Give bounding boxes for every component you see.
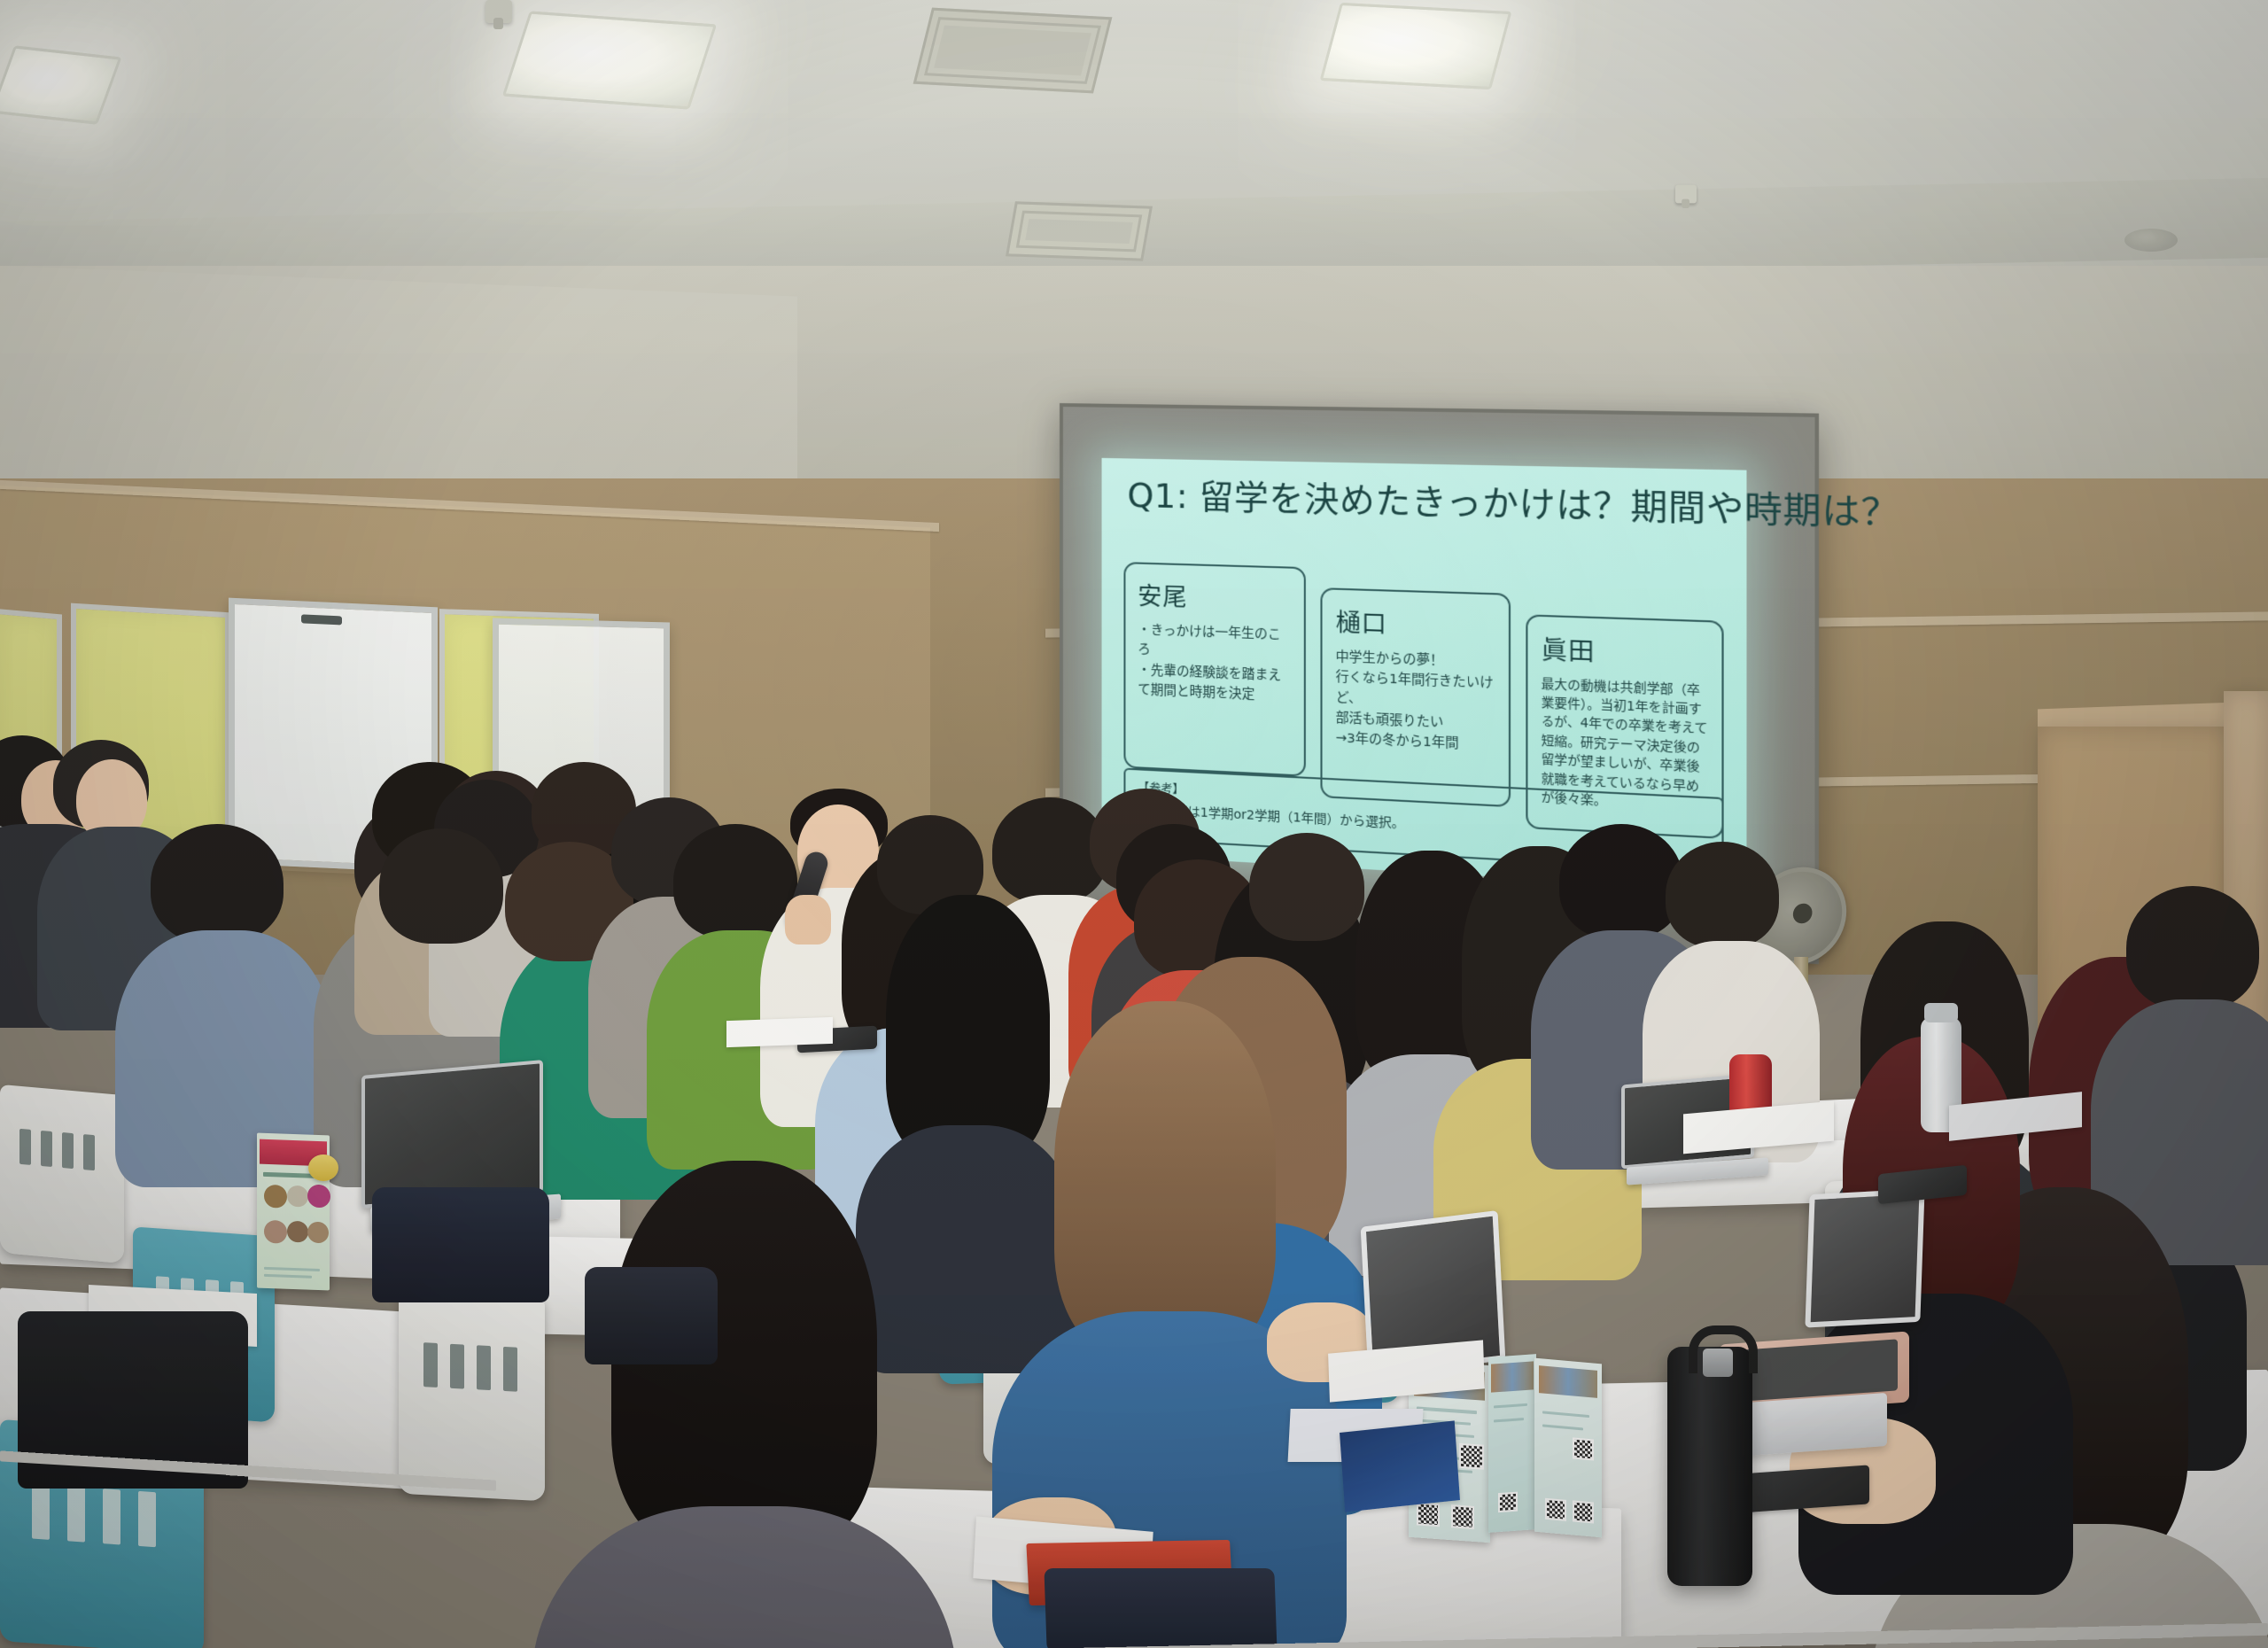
menu-food-photo <box>264 1185 287 1209</box>
chair-slot <box>67 1486 85 1542</box>
chair-slot <box>83 1134 95 1170</box>
slide-card-body: ・きっかけは一年生のころ ・先輩の経験談を踏まえて期間と時期を決定 <box>1138 620 1293 707</box>
hair <box>151 824 283 944</box>
pamphlet-text-line <box>1542 1425 1583 1431</box>
sprinkler-head <box>1675 185 1697 204</box>
handout-paper[interactable] <box>726 1017 833 1047</box>
pamphlet-text-line <box>1542 1411 1589 1418</box>
bottle-cap <box>1703 1349 1733 1377</box>
pamphlet-photo <box>1491 1361 1534 1392</box>
fan-hub <box>1792 902 1814 926</box>
tote-bag <box>585 1267 718 1364</box>
torso <box>856 1125 1077 1373</box>
chair-backrest <box>399 1290 545 1502</box>
whiteboard-marker-tray <box>301 614 342 625</box>
slide-card-name: 眞田 <box>1542 629 1710 672</box>
classroom-photo: Q1: 留学を決めたきっかけは？期間や時期は？ 安尾 ・きっかけは一年生のころ … <box>0 0 2268 1648</box>
chair-slot <box>450 1344 464 1389</box>
slide-card: 樋口 中学生からの夢！ 行くなら1年間行きたいけど、 部活も頑張りたい →3年の… <box>1321 587 1511 807</box>
qr-code <box>1498 1492 1518 1513</box>
slide-card: 安尾 ・きっかけは一年生のころ ・先輩の経験談を踏まえて期間と時期を決定 <box>1123 562 1306 777</box>
water-bottle-sleeve[interactable] <box>1667 1347 1752 1586</box>
laptop-screen <box>361 1060 543 1209</box>
hair <box>2126 886 2259 1010</box>
bottle-cap <box>1924 1003 1958 1022</box>
chair-slot <box>503 1347 517 1392</box>
slide-card-name: 樋口 <box>1335 602 1497 644</box>
pamphlet-panel <box>1534 1358 1602 1538</box>
pamphlet-text-line <box>1417 1406 1477 1414</box>
ceiling-speaker-icon <box>2124 229 2178 252</box>
hair-long <box>1054 1001 1276 1356</box>
qr-code <box>1573 1500 1594 1523</box>
menu-food-photo <box>287 1221 308 1243</box>
hvac-vent <box>1006 201 1153 260</box>
chair-slot <box>62 1132 74 1169</box>
tablet-in-stand[interactable] <box>1805 1188 1924 1327</box>
menu-food-photo <box>264 1220 287 1244</box>
pamphlet-text-line <box>1494 1403 1527 1409</box>
chair-backrest <box>0 1084 124 1263</box>
qr-code <box>1417 1502 1440 1527</box>
hair <box>1249 833 1364 941</box>
chair-slot <box>138 1491 156 1547</box>
qr-code <box>1451 1504 1474 1529</box>
menu-food-photo <box>287 1185 308 1208</box>
menu-text-line <box>264 1274 312 1279</box>
ceiling-light <box>1320 3 1512 89</box>
hair-long <box>886 895 1050 1161</box>
handout-paper[interactable] <box>1340 1420 1460 1512</box>
qr-code <box>1545 1498 1566 1521</box>
hvac-vent <box>913 8 1113 94</box>
tote-bag <box>372 1187 549 1302</box>
chair-slot <box>32 1483 50 1539</box>
menu-food-photo <box>307 1222 329 1244</box>
hand <box>785 895 831 944</box>
pamphlet-photo <box>1539 1365 1598 1398</box>
hair <box>1666 842 1779 948</box>
sprinkler-head <box>485 0 512 23</box>
chair-slot <box>19 1129 31 1165</box>
hair <box>1559 824 1683 939</box>
slide-card-row: 安尾 ・きっかけは一年生のころ ・先輩の経験談を踏まえて期間と時期を決定 樋口 … <box>1123 562 1723 797</box>
menu-food-photo <box>307 1185 330 1209</box>
slide-title: Q1: 留学を決めたきっかけは？期間や時期は？ <box>1127 477 1720 530</box>
pamphlet-text-line <box>1494 1418 1523 1422</box>
slide-card-name: 安尾 <box>1138 576 1293 616</box>
chair-slot <box>41 1131 52 1167</box>
menu-price-badge <box>308 1154 338 1181</box>
folded-cloth <box>1044 1568 1277 1648</box>
qr-code <box>1573 1438 1594 1461</box>
pamphlet-panel <box>1488 1354 1536 1533</box>
chair-slot <box>477 1345 491 1390</box>
slide-card-body: 中学生からの夢！ 行くなら1年間行きたいけど、 部活も頑張りたい →3年の冬から… <box>1335 647 1497 757</box>
menu-text-line <box>264 1266 319 1271</box>
ceiling-light <box>502 11 717 109</box>
hair <box>379 828 503 944</box>
chair-slot <box>103 1489 120 1544</box>
qr-code <box>1459 1443 1484 1470</box>
chair-slot <box>423 1342 438 1388</box>
